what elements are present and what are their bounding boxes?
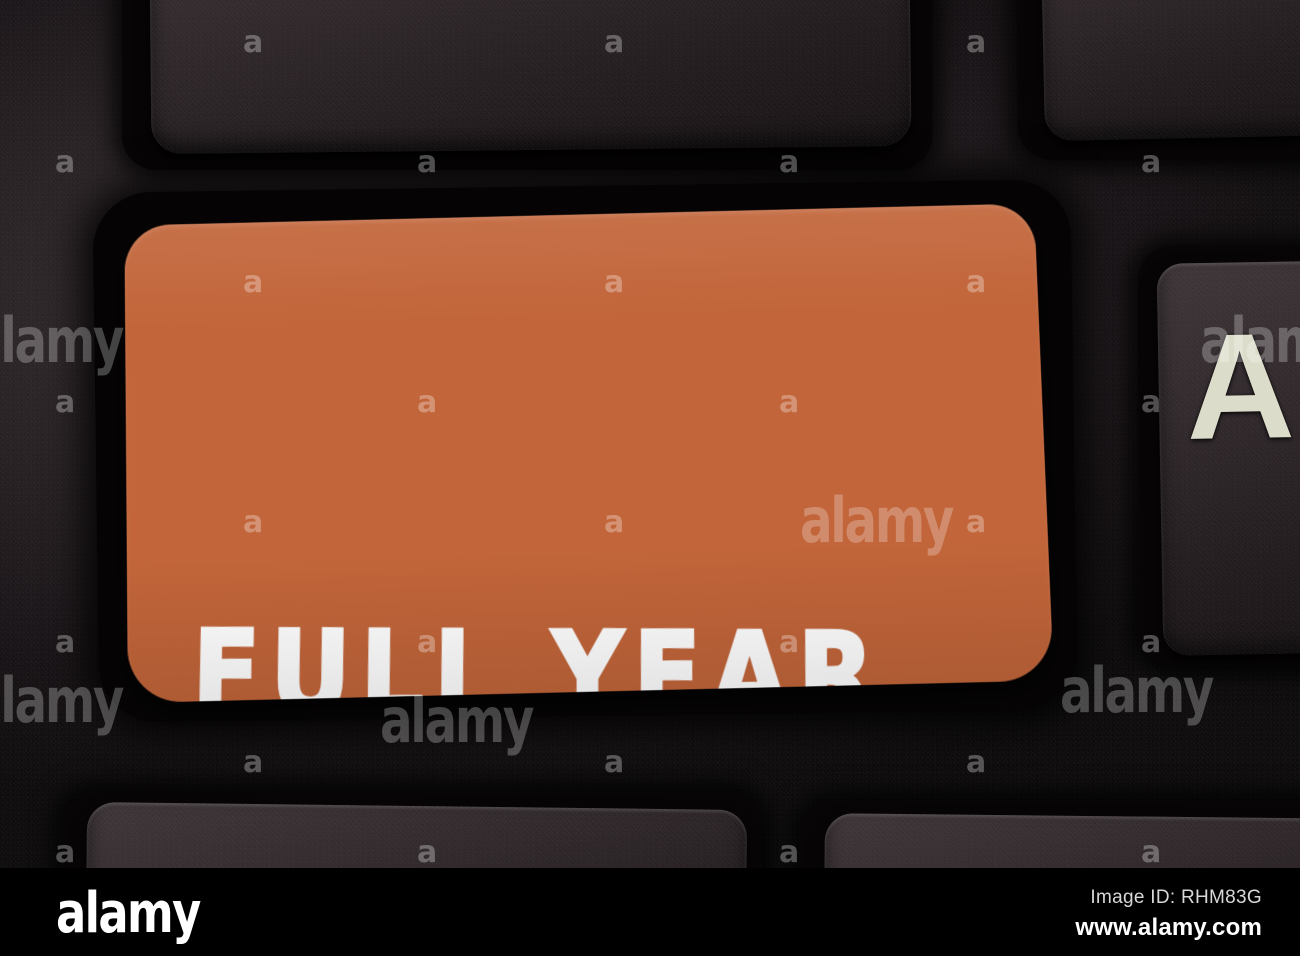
keyboard-key-top-right[interactable] (1039, 0, 1300, 141)
keyboard-key-top-left[interactable] (149, 0, 912, 154)
keyboard-key-bottom-left[interactable] (85, 802, 747, 868)
keycap-caption: FULL YEAR FORECAST! (177, 297, 1030, 703)
key-a-label: A (1184, 299, 1293, 474)
alamy-logo: alamy (56, 886, 200, 942)
footer-metadata: Image ID: RHM83G www.alamy.com (1075, 884, 1262, 944)
keyboard-key-bottom-right[interactable] (823, 813, 1300, 868)
screenshot-root: A FULL YEAR FORECAST! aaaaaaaaaaaaaaaaaa… (0, 0, 1300, 956)
alamy-url: www.alamy.com (1075, 912, 1262, 944)
keyboard-key-orange-highlight[interactable]: FULL YEAR FORECAST! (124, 203, 1053, 703)
alamy-footer-bar: alamy Image ID: RHM83G www.alamy.com (0, 868, 1300, 956)
image-id-label: Image ID: RHM83G (1075, 884, 1262, 912)
stock-photo-image: A FULL YEAR FORECAST! aaaaaaaaaaaaaaaaaa… (0, 0, 1300, 868)
